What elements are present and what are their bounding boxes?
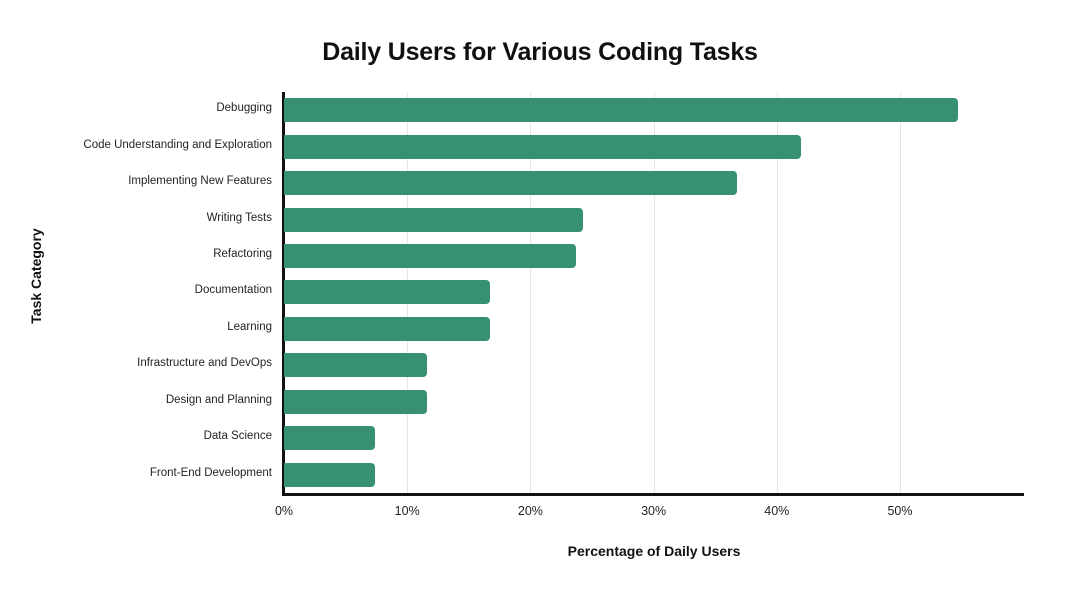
bar-rect bbox=[284, 98, 958, 122]
bar-1 bbox=[284, 135, 801, 159]
x-tick-label: 40% bbox=[737, 504, 817, 518]
plot-area bbox=[284, 92, 1024, 493]
y-tick-label: Front-End Development bbox=[0, 467, 272, 479]
bar-rect bbox=[284, 208, 583, 232]
bar-9 bbox=[284, 426, 375, 450]
bar-5 bbox=[284, 280, 490, 304]
page-title: Daily Users for Various Coding Tasks bbox=[0, 38, 1080, 67]
bar-0 bbox=[284, 98, 958, 122]
x-tick-label: 20% bbox=[490, 504, 570, 518]
y-tick-label: Data Science bbox=[0, 430, 272, 442]
bar-7 bbox=[284, 353, 427, 377]
y-tick-label: Code Understanding and Exploration bbox=[0, 139, 272, 151]
bar-rect bbox=[284, 353, 427, 377]
bar-3 bbox=[284, 208, 583, 232]
x-tick-label: 50% bbox=[860, 504, 940, 518]
bar-rect bbox=[284, 317, 490, 341]
bar-rect bbox=[284, 463, 375, 487]
bar-2 bbox=[284, 171, 737, 195]
x-tick-label: 30% bbox=[614, 504, 694, 518]
bar-4 bbox=[284, 244, 576, 268]
gridline-50% bbox=[900, 92, 901, 493]
bar-10 bbox=[284, 463, 375, 487]
bar-rect bbox=[284, 280, 490, 304]
bar-rect bbox=[284, 426, 375, 450]
x-axis-line bbox=[282, 493, 1024, 496]
bar-rect bbox=[284, 390, 427, 414]
x-tick-label: 0% bbox=[244, 504, 324, 518]
y-tick-label: Infrastructure and DevOps bbox=[0, 357, 272, 369]
y-tick-label: Design and Planning bbox=[0, 394, 272, 406]
y-tick-label: Implementing New Features bbox=[0, 175, 272, 187]
bar-6 bbox=[284, 317, 490, 341]
x-tick-label: 10% bbox=[367, 504, 447, 518]
chart-figure: Daily Users for Various Coding Tasks Deb… bbox=[0, 0, 1080, 608]
bar-rect bbox=[284, 135, 801, 159]
y-axis-label: Task Category bbox=[28, 196, 44, 356]
y-tick-label: Debugging bbox=[0, 102, 272, 114]
x-axis-label: Percentage of Daily Users bbox=[284, 543, 1024, 559]
bar-8 bbox=[284, 390, 427, 414]
bar-rect bbox=[284, 244, 576, 268]
bar-rect bbox=[284, 171, 737, 195]
